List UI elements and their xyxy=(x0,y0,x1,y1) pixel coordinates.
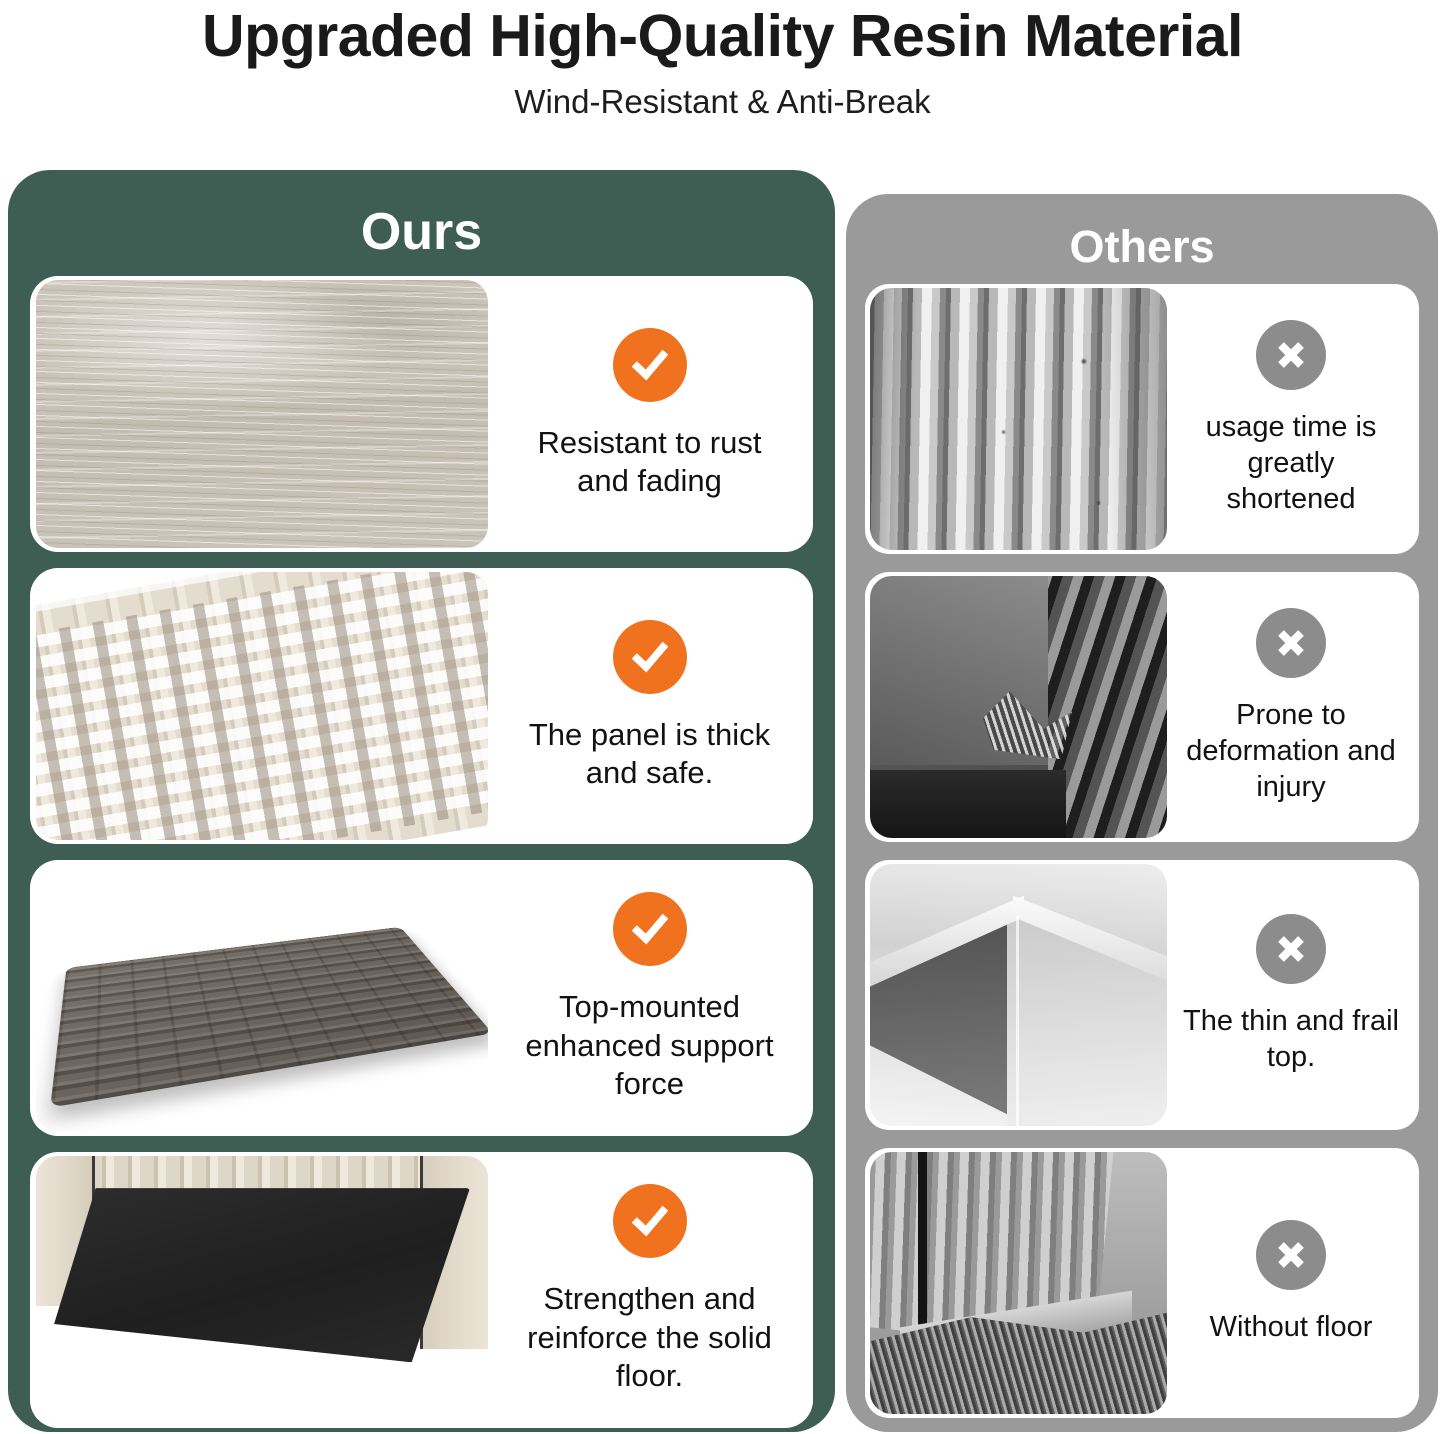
metal-fold xyxy=(1048,576,1167,838)
thin-metal-roof-corner xyxy=(870,864,1167,1126)
ours-image-3 xyxy=(36,864,488,1132)
metal-base-shadow xyxy=(870,770,1066,838)
rust-streaks xyxy=(870,288,1167,550)
others-rows: usage time is greatly shortened xyxy=(846,284,1438,1418)
ours-text-4: Strengthen and reinforce the solid floor… xyxy=(488,1152,813,1428)
comparison-row: Top-mounted enhanced support force xyxy=(30,860,813,1136)
ours-heading: Ours xyxy=(8,170,835,258)
comparison-row: The panel is thick and safe. xyxy=(30,568,813,844)
ours-image-4 xyxy=(36,1156,488,1424)
floor-tray-body xyxy=(50,927,488,1108)
ours-label-3: Top-mounted enhanced support force xyxy=(519,988,781,1103)
comparison-row: usage time is greatly shortened xyxy=(865,284,1419,554)
comparison-row: Resistant to rust and fading xyxy=(30,276,813,552)
page-title: Upgraded High-Quality Resin Material xyxy=(0,6,1445,68)
others-label-1: usage time is greatly shortened xyxy=(1179,410,1403,518)
wall-gap-shadow xyxy=(918,1152,928,1346)
ours-text-2: The panel is thick and safe. xyxy=(488,568,813,844)
x-circle-icon xyxy=(1256,608,1326,678)
ours-text-1: Resistant to rust and fading xyxy=(488,276,813,552)
others-text-3: The thin and frail top. xyxy=(1167,860,1419,1130)
others-heading: Others xyxy=(846,194,1438,269)
bent-torn-metal-corner xyxy=(870,576,1167,838)
ours-image-2 xyxy=(36,572,488,840)
shed-solid-floor xyxy=(54,1188,470,1362)
ours-text-3: Top-mounted enhanced support force xyxy=(488,860,813,1136)
check-circle-icon xyxy=(613,620,687,694)
check-circle-icon xyxy=(613,328,687,402)
dark-ribbed-floor-tray xyxy=(36,864,488,1132)
x-circle-icon xyxy=(1256,320,1326,390)
infographic-page: Upgraded High-Quality Resin Material Win… xyxy=(0,0,1445,1434)
x-circle-icon xyxy=(1256,1220,1326,1290)
others-image-3 xyxy=(870,864,1167,1126)
comparison-row: Prone to deformation and injury xyxy=(865,572,1419,842)
others-image-4 xyxy=(870,1152,1167,1414)
shed-interior-solid-floor xyxy=(36,1156,488,1424)
rusted-corrugated-metal xyxy=(870,288,1167,550)
ours-label-4: Strengthen and reinforce the solid floor… xyxy=(519,1280,781,1395)
comparison-row: The thin and frail top. xyxy=(865,860,1419,1130)
shed-base-on-grass xyxy=(870,1152,1167,1414)
check-circle-icon xyxy=(613,1184,687,1258)
ours-panel: Ours Resistant to rust and fading xyxy=(8,170,835,1432)
comparison-row: Without floor xyxy=(865,1148,1419,1418)
roof-corner-seam xyxy=(1016,916,1019,1126)
ours-label-1: Resistant to rust and fading xyxy=(519,424,781,501)
page-subtitle: Wind-Resistant & Anti-Break xyxy=(0,84,1445,120)
ours-image-1 xyxy=(36,280,488,548)
comparison-row: Strengthen and reinforce the solid floor… xyxy=(30,1152,813,1428)
others-label-2: Prone to deformation and injury xyxy=(1179,698,1403,806)
comparison-columns: Ours Resistant to rust and fading xyxy=(0,158,1445,1434)
others-text-4: Without floor xyxy=(1167,1148,1419,1418)
others-image-1 xyxy=(870,288,1167,550)
others-text-1: usage time is greatly shortened xyxy=(1167,284,1419,554)
others-image-2 xyxy=(870,576,1167,838)
beige-woodgrain-resin-texture xyxy=(36,280,488,548)
check-circle-icon xyxy=(613,892,687,966)
others-label-3: The thin and frail top. xyxy=(1179,1004,1403,1076)
others-label-4: Without floor xyxy=(1210,1310,1373,1346)
ours-rows: Resistant to rust and fading xyxy=(8,276,835,1428)
ours-label-2: The panel is thick and safe. xyxy=(519,716,781,793)
others-panel: Others usage time is gr xyxy=(846,194,1438,1432)
thick-perforated-resin-panel xyxy=(36,572,488,840)
header-block: Upgraded High-Quality Resin Material Win… xyxy=(0,0,1445,120)
others-text-2: Prone to deformation and injury xyxy=(1167,572,1419,842)
x-circle-icon xyxy=(1256,914,1326,984)
